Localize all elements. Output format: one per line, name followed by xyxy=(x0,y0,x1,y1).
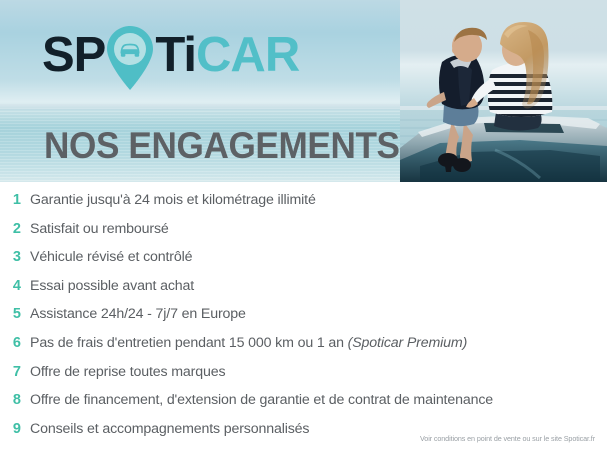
list-item: 6 Pas de frais d'entretien pendant 15 00… xyxy=(0,335,607,364)
list-item-number: 7 xyxy=(0,364,30,380)
list-item: 5 Assistance 24h/24 - 7j/7 en Europe xyxy=(0,306,607,335)
list-item-label: Garantie jusqu'à 24 mois et kilométrage … xyxy=(30,192,316,208)
commitments-list: 1 Garantie jusqu'à 24 mois et kilométrag… xyxy=(0,192,607,449)
list-item-number: 4 xyxy=(0,278,30,294)
list-item: 2 Satisfait ou remboursé xyxy=(0,221,607,250)
page-title: NOS ENGAGEMENTS xyxy=(44,124,400,168)
logo-text-sp: SP xyxy=(42,28,105,82)
list-item-number: 8 xyxy=(0,392,30,408)
list-item: 1 Garantie jusqu'à 24 mois et kilométrag… xyxy=(0,192,607,221)
list-item-label: Pas de frais d'entretien pendant 15 000 … xyxy=(30,335,467,351)
list-item: 3 Véhicule révisé et contrôlé xyxy=(0,249,607,278)
woman-and-child-on-car-roof-photo xyxy=(400,0,607,182)
hero-banner: SP Ti CAR NOS ENGAGEMENTS xyxy=(0,0,607,182)
list-item-text: Pas de frais d'entretien pendant 15 000 … xyxy=(30,335,348,351)
list-item-label: Assistance 24h/24 - 7j/7 en Europe xyxy=(30,306,246,322)
list-item-number: 3 xyxy=(0,249,30,265)
spoticar-commitments-banner: SP Ti CAR NOS ENGAGEMENTS xyxy=(0,0,607,455)
spoticar-logo: SP Ti CAR xyxy=(42,28,299,82)
list-item-label: Essai possible avant achat xyxy=(30,278,194,294)
list-item-number: 6 xyxy=(0,335,30,351)
list-item-label: Offre de reprise toutes marques xyxy=(30,364,225,380)
list-item-label: Véhicule révisé et contrôlé xyxy=(30,249,192,265)
list-item: 8 Offre de financement, d'extension de g… xyxy=(0,392,607,421)
list-item-number: 5 xyxy=(0,306,30,322)
list-item-label: Satisfait ou remboursé xyxy=(30,221,169,237)
list-item-number: 2 xyxy=(0,221,30,237)
logo-text-car: CAR xyxy=(196,28,299,82)
logo-text-ti: Ti xyxy=(155,28,196,82)
list-item-italic-note: (Spoticar Premium) xyxy=(348,335,468,351)
legal-footnote: Voir conditions en point de vente ou sur… xyxy=(420,434,595,443)
list-item-number: 1 xyxy=(0,192,30,208)
list-item-number: 9 xyxy=(0,421,30,437)
map-pin-car-icon xyxy=(106,24,154,94)
list-item-label: Conseils et accompagnements personnalisé… xyxy=(30,421,309,437)
list-item: 7 Offre de reprise toutes marques xyxy=(0,364,607,393)
list-item-label: Offre de financement, d'extension de gar… xyxy=(30,392,493,408)
list-item: 4 Essai possible avant achat xyxy=(0,278,607,307)
